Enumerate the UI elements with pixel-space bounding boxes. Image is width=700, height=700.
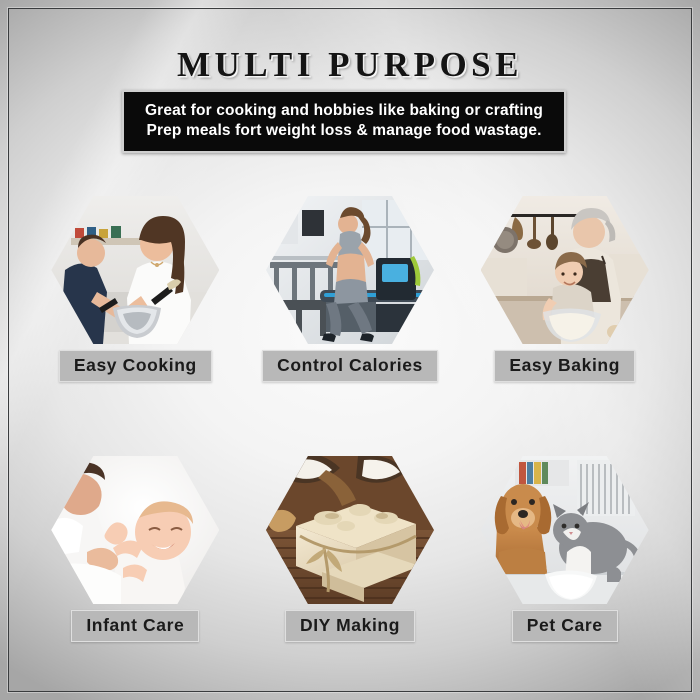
feature-label-pet-care: Pet Care (512, 610, 618, 642)
feature-label-easy-cooking: Easy Cooking (59, 350, 212, 382)
feature-cell-easy-baking: Easy Baking (459, 196, 670, 456)
subtitle-banner: Great for cooking and hobbies like bakin… (122, 90, 566, 153)
feature-grid: Easy Cooking (30, 196, 670, 700)
multi-purpose-feature-poster: MULTI PURPOSE Great for cooking and hobb… (0, 0, 700, 700)
feature-cell-pet-care: Pet Care (459, 456, 670, 700)
infant-care-image (51, 456, 219, 604)
feature-cell-diy-making: DIY Making (245, 456, 456, 700)
subtitle-line-2: Prep meals fort weight loss & manage foo… (130, 121, 558, 141)
control-calories-image (266, 196, 434, 344)
easy-baking-image (481, 196, 649, 344)
pet-care-image (481, 456, 649, 604)
feature-label-control-calories: Control Calories (262, 350, 438, 382)
feature-label-infant-care: Infant Care (71, 610, 199, 642)
page-title: MULTI PURPOSE (0, 45, 700, 85)
diy-making-image (266, 456, 434, 604)
feature-label-easy-baking: Easy Baking (494, 350, 635, 382)
easy-cooking-image (51, 196, 219, 344)
feature-cell-infant-care: Infant Care (30, 456, 241, 700)
feature-cell-easy-cooking: Easy Cooking (30, 196, 241, 456)
subtitle-line-1: Great for cooking and hobbies like bakin… (130, 101, 558, 121)
feature-cell-control-calories: Control Calories (245, 196, 456, 456)
feature-label-diy-making: DIY Making (285, 610, 415, 642)
